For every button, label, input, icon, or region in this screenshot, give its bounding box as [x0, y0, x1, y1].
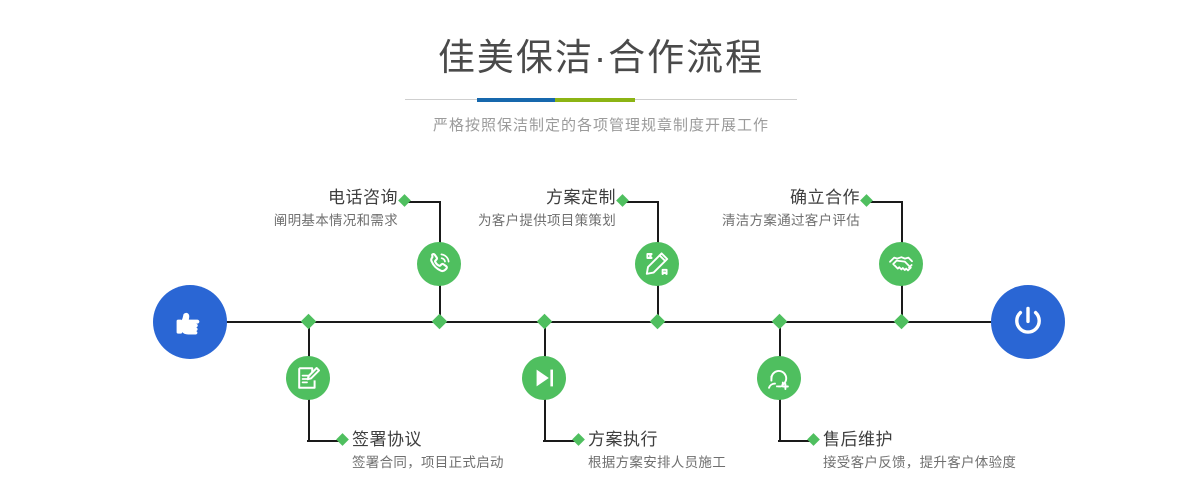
- step-1-label-marker: [398, 194, 411, 207]
- step-6-label-marker: [860, 194, 873, 207]
- step-1-desc: 阐明基本情况和需求: [240, 210, 398, 232]
- step-5-label: 售后维护 接受客户反馈，提升客户体验度: [823, 428, 1016, 474]
- step-3-connector-horizontal: [624, 201, 658, 203]
- step-4-icon-badge: [522, 356, 566, 400]
- step-5-icon-badge: [757, 356, 801, 400]
- phone-call-icon: [425, 250, 453, 278]
- step-6-label: 确立合作 清洁方案通过客户评估: [700, 186, 860, 232]
- step-4-desc: 根据方案安排人员施工: [588, 452, 726, 474]
- step-6-desc: 清洁方案通过客户评估: [700, 210, 860, 232]
- step-6-connector-horizontal: [868, 201, 902, 203]
- step-4-label: 方案执行 根据方案安排人员施工: [588, 428, 726, 474]
- step-5-label-marker: [807, 433, 820, 446]
- step-2-title: 签署协议: [352, 428, 504, 452]
- play-execute-icon: [530, 364, 558, 392]
- document-edit-icon: [294, 364, 322, 392]
- step-1-connector-horizontal: [406, 201, 440, 203]
- step-2-desc: 签署合同，项目正式启动: [352, 452, 504, 474]
- pointing-hand-icon: [170, 302, 210, 342]
- step-6-icon-badge: [879, 242, 923, 286]
- step-1-title: 电话咨询: [240, 186, 398, 210]
- step-3-desc: 为客户提供项目策策划: [455, 210, 616, 232]
- step-3-axis-marker: [650, 314, 666, 330]
- flow-start-node: [153, 285, 227, 359]
- step-1-icon-badge: [417, 242, 461, 286]
- power-icon: [1007, 301, 1049, 343]
- flow-end-node: [991, 285, 1065, 359]
- step-2-label-marker: [336, 433, 349, 446]
- step-4-axis-marker: [537, 314, 553, 330]
- step-2-icon-badge: [286, 356, 330, 400]
- step-1-label: 电话咨询 阐明基本情况和需求: [240, 186, 398, 232]
- pencil-ruler-icon: [643, 250, 671, 278]
- step-6-axis-marker: [894, 314, 910, 330]
- handshake-icon: [887, 250, 915, 278]
- step-1-axis-marker: [432, 314, 448, 330]
- step-4-label-marker: [572, 433, 585, 446]
- step-4-title: 方案执行: [588, 428, 726, 452]
- step-2-label: 签署协议 签署合同，项目正式启动: [352, 428, 504, 474]
- step-5-axis-marker: [772, 314, 788, 330]
- process-flow-diagram: 电话咨询 阐明基本情况和需求 签署协议 签署合同，项目正式启动: [0, 0, 1202, 502]
- step-3-label: 方案定制 为客户提供项目策策划: [455, 186, 616, 232]
- infographic-page: 佳美保洁·合作流程 严格按照保洁制定的各项管理规章制度开展工作: [0, 0, 1202, 502]
- step-2-axis-marker: [301, 314, 317, 330]
- step-3-title: 方案定制: [455, 186, 616, 210]
- step-5-title: 售后维护: [823, 428, 1016, 452]
- step-3-icon-badge: [635, 242, 679, 286]
- step-3-label-marker: [616, 194, 629, 207]
- headset-support-icon: [765, 364, 793, 392]
- step-6-title: 确立合作: [700, 186, 860, 210]
- step-5-desc: 接受客户反馈，提升客户体验度: [823, 452, 1016, 474]
